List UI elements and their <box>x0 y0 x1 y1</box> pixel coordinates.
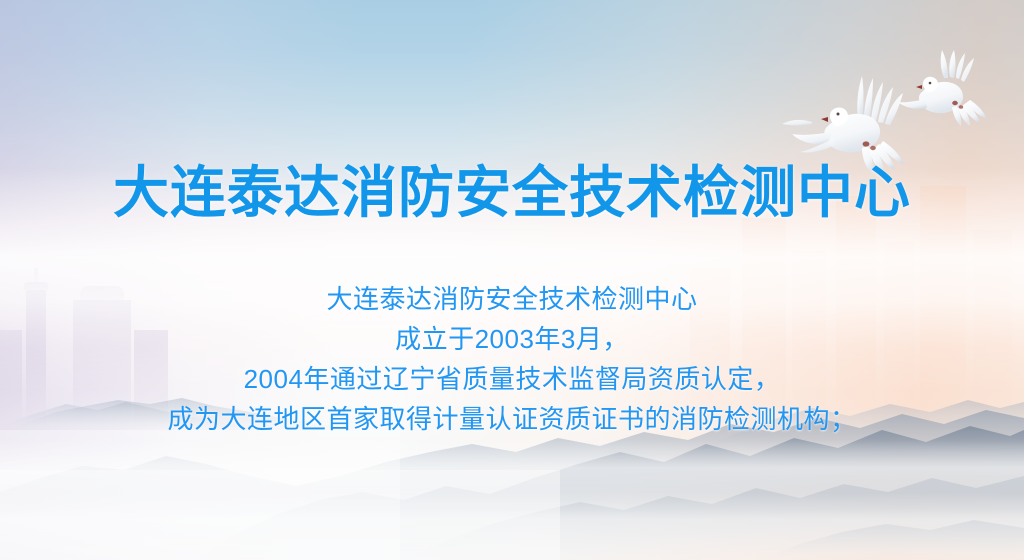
page-title: 大连泰达消防安全技术检测中心 <box>0 163 1024 222</box>
intro-line-1: 大连泰达消防安全技术检测中心 <box>0 279 1024 319</box>
intro-paragraph: 大连泰达消防安全技术检测中心 成立于2003年3月， 2004年通过辽宁省质量技… <box>0 279 1024 439</box>
intro-line-3: 2004年通过辽宁省质量技术监督局资质认定， <box>0 359 1024 399</box>
intro-line-4: 成为大连地区首家取得计量认证资质证书的消防检测机构； <box>0 399 1024 439</box>
promo-banner: 大连泰达消防安全技术检测中心 大连泰达消防安全技术检测中心 成立于2003年3月… <box>0 0 1024 560</box>
dove-left-icon <box>782 76 904 174</box>
dove-right-icon <box>898 50 987 126</box>
intro-line-2: 成立于2003年3月， <box>0 319 1024 359</box>
